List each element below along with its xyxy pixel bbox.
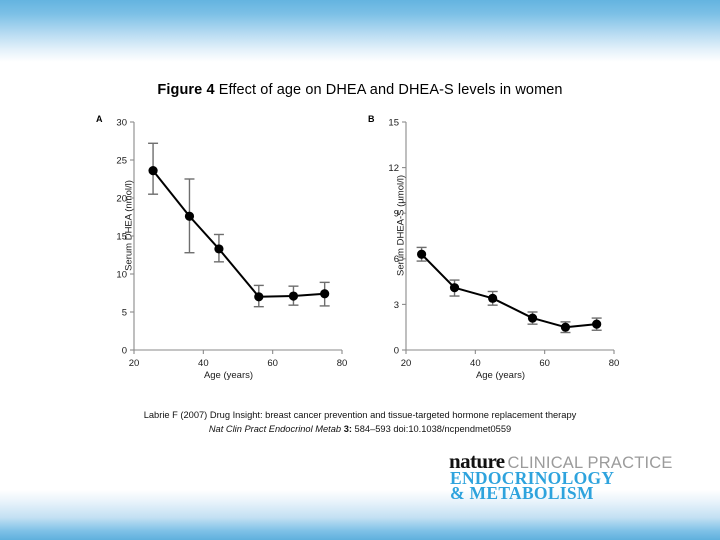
svg-text:6: 6 xyxy=(394,254,399,265)
svg-text:30: 30 xyxy=(116,117,127,128)
svg-text:15: 15 xyxy=(116,231,127,242)
slide-canvas: Figure 4 Effect of age on DHEA and DHEA-… xyxy=(0,0,720,540)
chart-panel-a: A Serum DHEA (nmol/l) Age (years) 051015… xyxy=(92,112,357,397)
svg-text:9: 9 xyxy=(394,209,399,220)
svg-text:60: 60 xyxy=(539,358,550,369)
chart-panel-b: B Serum DHEA-S (µmol/l) Age (years) 0369… xyxy=(364,112,629,397)
svg-text:20: 20 xyxy=(116,193,127,204)
citation-journal: Nat Clin Pract Endocrinol Metab xyxy=(209,424,341,434)
svg-text:80: 80 xyxy=(609,358,620,369)
citation-pages-doi: 584–593 doi:10.1038/ncpendmet0559 xyxy=(352,424,511,434)
svg-text:5: 5 xyxy=(122,307,127,318)
citation-line-1: Labrie F (2007) Drug Insight: breast can… xyxy=(144,410,577,420)
svg-text:40: 40 xyxy=(198,358,209,369)
svg-text:0: 0 xyxy=(394,345,399,356)
svg-text:15: 15 xyxy=(388,117,399,128)
svg-text:10: 10 xyxy=(116,269,127,280)
citation-line-2: Nat Clin Pract Endocrinol Metab 3: 584–5… xyxy=(0,422,720,436)
svg-text:80: 80 xyxy=(337,358,348,369)
svg-text:60: 60 xyxy=(267,358,278,369)
page-title: Figure 4 Effect of age on DHEA and DHEA-… xyxy=(0,82,720,98)
citation-volume: 3: xyxy=(344,424,352,434)
nature-clinical-practice-logo: natureCLINICAL PRACTICE ENDOCRINOLOGY & … xyxy=(449,451,699,503)
panel-b-plot: 0369121520406080 xyxy=(364,112,629,397)
svg-text:20: 20 xyxy=(401,358,412,369)
svg-text:0: 0 xyxy=(122,345,127,356)
title-figure-number: Figure 4 xyxy=(157,82,214,98)
citation-block: Labrie F (2007) Drug Insight: breast can… xyxy=(0,408,720,436)
svg-text:20: 20 xyxy=(129,358,140,369)
title-text: Effect of age on DHEA and DHEA-S levels … xyxy=(215,82,563,98)
svg-text:3: 3 xyxy=(394,300,399,311)
top-gradient-band xyxy=(0,0,720,62)
figure-panels: A Serum DHEA (nmol/l) Age (years) 051015… xyxy=(92,112,632,397)
logo-metabolism: & METABOLISM xyxy=(450,485,594,502)
panel-a-plot: 05101520253020406080 xyxy=(92,112,357,397)
svg-text:25: 25 xyxy=(116,155,127,166)
svg-text:40: 40 xyxy=(470,358,481,369)
svg-text:12: 12 xyxy=(388,163,399,174)
